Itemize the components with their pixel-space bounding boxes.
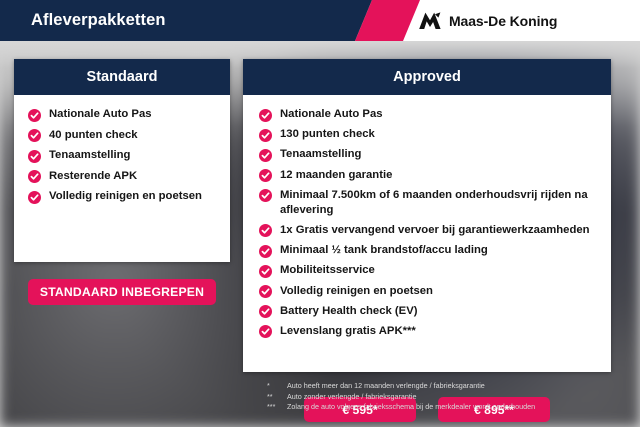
feature-item: Battery Health check (EV)	[243, 304, 611, 319]
feature-label: Resterende APK	[49, 169, 137, 184]
feature-item: Tenaamstelling	[243, 147, 611, 162]
brand-name: Maas-De Koning	[449, 13, 557, 29]
check-circle-icon	[259, 189, 272, 202]
feature-label: 1x Gratis vervangend vervoer bij garanti…	[280, 223, 590, 238]
footnote: **Auto zonder verlengde / fabrieksgarant…	[267, 392, 627, 403]
check-circle-icon	[259, 169, 272, 182]
page-title: Afleverpakketten	[31, 0, 166, 41]
footnote-text: Auto heeft meer dan 12 maanden verlengde…	[287, 381, 627, 392]
check-circle-icon	[28, 129, 41, 142]
feature-item: 40 punten check	[14, 128, 230, 143]
feature-label: Volledig reinigen en poetsen	[280, 284, 433, 299]
standaard-included-button[interactable]: STANDAARD INBEGREPEN	[28, 279, 216, 305]
check-circle-icon	[259, 285, 272, 298]
feature-label: 40 punten check	[49, 128, 138, 143]
card-body-approved: Nationale Auto Pas130 punten checkTenaam…	[243, 95, 611, 339]
check-circle-icon	[259, 169, 272, 182]
footnote-text: Zolang de auto volgens fabrieksschema bi…	[287, 402, 627, 413]
footnote-marker: *	[267, 381, 281, 392]
check-circle-icon	[28, 150, 41, 163]
check-circle-icon	[259, 265, 272, 278]
feature-label: Nationale Auto Pas	[280, 107, 383, 122]
check-circle-icon	[259, 109, 272, 122]
feature-label: Levenslang gratis APK***	[280, 324, 416, 339]
feature-label: Mobiliteitsservice	[280, 263, 375, 278]
feature-item: Volledig reinigen en poetsen	[243, 284, 611, 299]
feature-item: Nationale Auto Pas	[14, 107, 230, 122]
feature-item: Minimaal 7.500km of 6 maanden onderhouds…	[243, 188, 611, 218]
slide-root: Afleverpakketten Maas-De Koning Standaar…	[0, 0, 640, 427]
check-circle-icon	[28, 109, 41, 122]
feature-label: Minimaal 7.500km of 6 maanden onderhouds…	[280, 188, 601, 218]
check-circle-icon	[259, 305, 272, 318]
footnote: ***Zolang de auto volgens fabrieksschema…	[267, 402, 627, 413]
check-circle-icon	[28, 129, 41, 142]
check-circle-icon	[259, 325, 272, 338]
check-circle-icon	[259, 285, 272, 298]
maas-de-koning-m-logo-icon	[418, 12, 442, 30]
feature-item: 130 punten check	[243, 127, 611, 142]
check-circle-icon	[28, 191, 41, 204]
card-title-standaard: Standaard	[14, 59, 230, 95]
check-circle-icon	[259, 109, 272, 122]
check-circle-icon	[259, 224, 272, 237]
feature-label: Volledig reinigen en poetsen	[49, 189, 202, 204]
check-circle-icon	[259, 325, 272, 338]
check-circle-icon	[28, 170, 41, 183]
check-circle-icon	[28, 109, 41, 122]
check-circle-icon	[259, 149, 272, 162]
brand-lockup: Maas-De Koning	[418, 0, 557, 41]
feature-label: Tenaamstelling	[49, 148, 130, 163]
package-card-approved: Approved Nationale Auto Pas130 punten ch…	[243, 59, 611, 372]
feature-list-standaard: Nationale Auto Pas40 punten checkTenaams…	[14, 107, 230, 204]
check-circle-icon	[28, 191, 41, 204]
feature-item: Mobiliteitsservice	[243, 263, 611, 278]
feature-item: Minimaal ½ tank brandstof/accu lading	[243, 243, 611, 258]
feature-item: Resterende APK	[14, 169, 230, 184]
feature-label: 12 maanden garantie	[280, 168, 392, 183]
feature-item: Nationale Auto Pas	[243, 107, 611, 122]
card-body-standaard: Nationale Auto Pas40 punten checkTenaams…	[14, 95, 230, 204]
feature-label: Tenaamstelling	[280, 147, 361, 162]
check-circle-icon	[259, 129, 272, 142]
feature-label: Minimaal ½ tank brandstof/accu lading	[280, 243, 488, 258]
feature-label: 130 punten check	[280, 127, 375, 142]
check-circle-icon	[259, 129, 272, 142]
check-circle-icon	[259, 245, 272, 258]
footnote-list: *Auto heeft meer dan 12 maanden verlengd…	[267, 381, 627, 413]
footnote-marker: ***	[267, 402, 281, 413]
check-circle-icon	[259, 149, 272, 162]
page-header: Afleverpakketten Maas-De Koning	[0, 0, 640, 41]
footnote-marker: **	[267, 392, 281, 403]
footnote-text: Auto zonder verlengde / fabrieksgarantie	[287, 392, 627, 403]
feature-label: Nationale Auto Pas	[49, 107, 152, 122]
card-title-approved: Approved	[243, 59, 611, 95]
feature-item: Volledig reinigen en poetsen	[14, 189, 230, 204]
feature-item: Levenslang gratis APK***	[243, 324, 611, 339]
package-card-standaard: Standaard Nationale Auto Pas40 punten ch…	[14, 59, 230, 262]
check-circle-icon	[259, 305, 272, 318]
footnote: *Auto heeft meer dan 12 maanden verlengd…	[267, 381, 627, 392]
feature-label: Battery Health check (EV)	[280, 304, 418, 319]
feature-item: 1x Gratis vervangend vervoer bij garanti…	[243, 223, 611, 238]
feature-item: 12 maanden garantie	[243, 168, 611, 183]
check-circle-icon	[28, 170, 41, 183]
check-circle-icon	[259, 265, 272, 278]
feature-item: Tenaamstelling	[14, 148, 230, 163]
feature-list-approved: Nationale Auto Pas130 punten checkTenaam…	[243, 107, 611, 339]
check-circle-icon	[28, 150, 41, 163]
check-circle-icon	[259, 189, 272, 202]
check-circle-icon	[259, 224, 272, 237]
check-circle-icon	[259, 245, 272, 258]
